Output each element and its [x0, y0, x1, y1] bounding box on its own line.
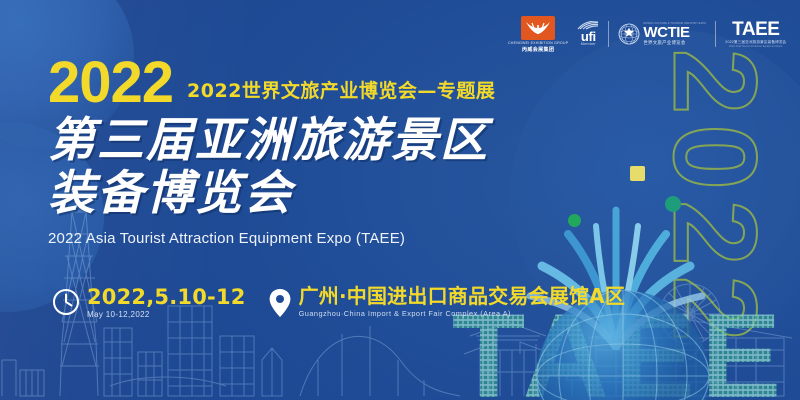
event-date-item: 2022,5.10-12 May 10-12,2022: [52, 286, 246, 319]
taee-caption-en: 2022 Asia Tourist Attraction Equipment E…: [729, 46, 782, 49]
logo-divider-2: [715, 21, 716, 47]
logo-divider-1: [608, 21, 609, 47]
wctie-logo: WORLD CULTURE & TOURISM INDUSTRY EXPO WC…: [618, 23, 706, 46]
chengwei-exhibition-group-logo: CHENGWEI EXHIBITION GROUP 丙威会展集团: [508, 16, 568, 53]
headline-block: 2022 2022世界文旅产业博览会—专题展 第三届亚洲旅游景区 装备博览会 2…: [48, 56, 495, 247]
title-english: 2022 Asia Tourist Attraction Equipment E…: [48, 230, 495, 247]
chengwei-caption-cn: 丙威会展集团: [522, 46, 554, 53]
event-date-main: 2022,5.10-12: [87, 286, 246, 308]
taee-logo: TAEE 2022第三届亚洲旅游景区装备博览会 2022 Asia Touris…: [725, 20, 786, 48]
wctie-caption-cn: 世界文旅产业博览会: [643, 41, 706, 45]
chengwei-caption-en: CHENGWEI EXHIBITION GROUP: [508, 41, 568, 45]
title-line-2: 装备博览会: [48, 168, 495, 221]
event-info-row: 2022,5.10-12 May 10-12,2022 广州·中国进出口商品交易…: [52, 286, 625, 319]
event-venue-item: 广州·中国进出口商品交易会展馆A区 Guangzhou·China Import…: [268, 286, 625, 318]
taee-caption-cn: 2022第三届亚洲旅游景区装备博览会: [725, 41, 786, 45]
chengwei-logo-mark-icon: [521, 16, 555, 40]
event-venue-sub: Guangzhou·China Import & Export Fair Com…: [299, 310, 625, 318]
event-date-sub: May 10-12,2022: [87, 311, 246, 319]
wctie-globe-icon: [618, 23, 640, 45]
year-row: 2022 2022世界文旅产业博览会—专题展: [48, 56, 495, 109]
location-pin-icon: [268, 288, 292, 318]
decor-dot-green-small: [568, 214, 581, 227]
event-date-text: 2022,5.10-12 May 10-12,2022: [87, 286, 246, 319]
decor-square-yellow: [630, 166, 645, 181]
ufi-member-label: Member: [581, 43, 596, 47]
clock-icon: [52, 288, 80, 316]
wing-w-icon: [525, 20, 551, 36]
event-venue-text: 广州·中国进出口商品交易会展馆A区 Guangzhou·China Import…: [299, 286, 625, 318]
decor-dot-green-large: [665, 196, 681, 212]
ufi-logo: ufi Member: [577, 21, 599, 47]
partner-logo-strip: CHENGWEI EXHIBITION GROUP 丙威会展集团 ufi Mem…: [508, 16, 786, 52]
event-venue-main: 广州·中国进出口商品交易会展馆A区: [299, 286, 625, 307]
title-line-1: 第三届亚洲旅游景区: [48, 113, 489, 168]
wctie-name: WCTIE: [643, 25, 706, 40]
year-big-text: 2022: [48, 56, 173, 109]
event-series-subtitle: 2022世界文旅产业博览会—专题展: [187, 76, 495, 109]
wctie-text-block: WORLD CULTURE & TOURISM INDUSTRY EXPO WC…: [643, 23, 706, 46]
page-title: 第三届亚洲旅游景区 装备博览会: [48, 115, 495, 220]
expo-promo-banner: 2022 TAEE TAEE: [0, 0, 800, 400]
taee-name: TAEE: [732, 20, 779, 39]
